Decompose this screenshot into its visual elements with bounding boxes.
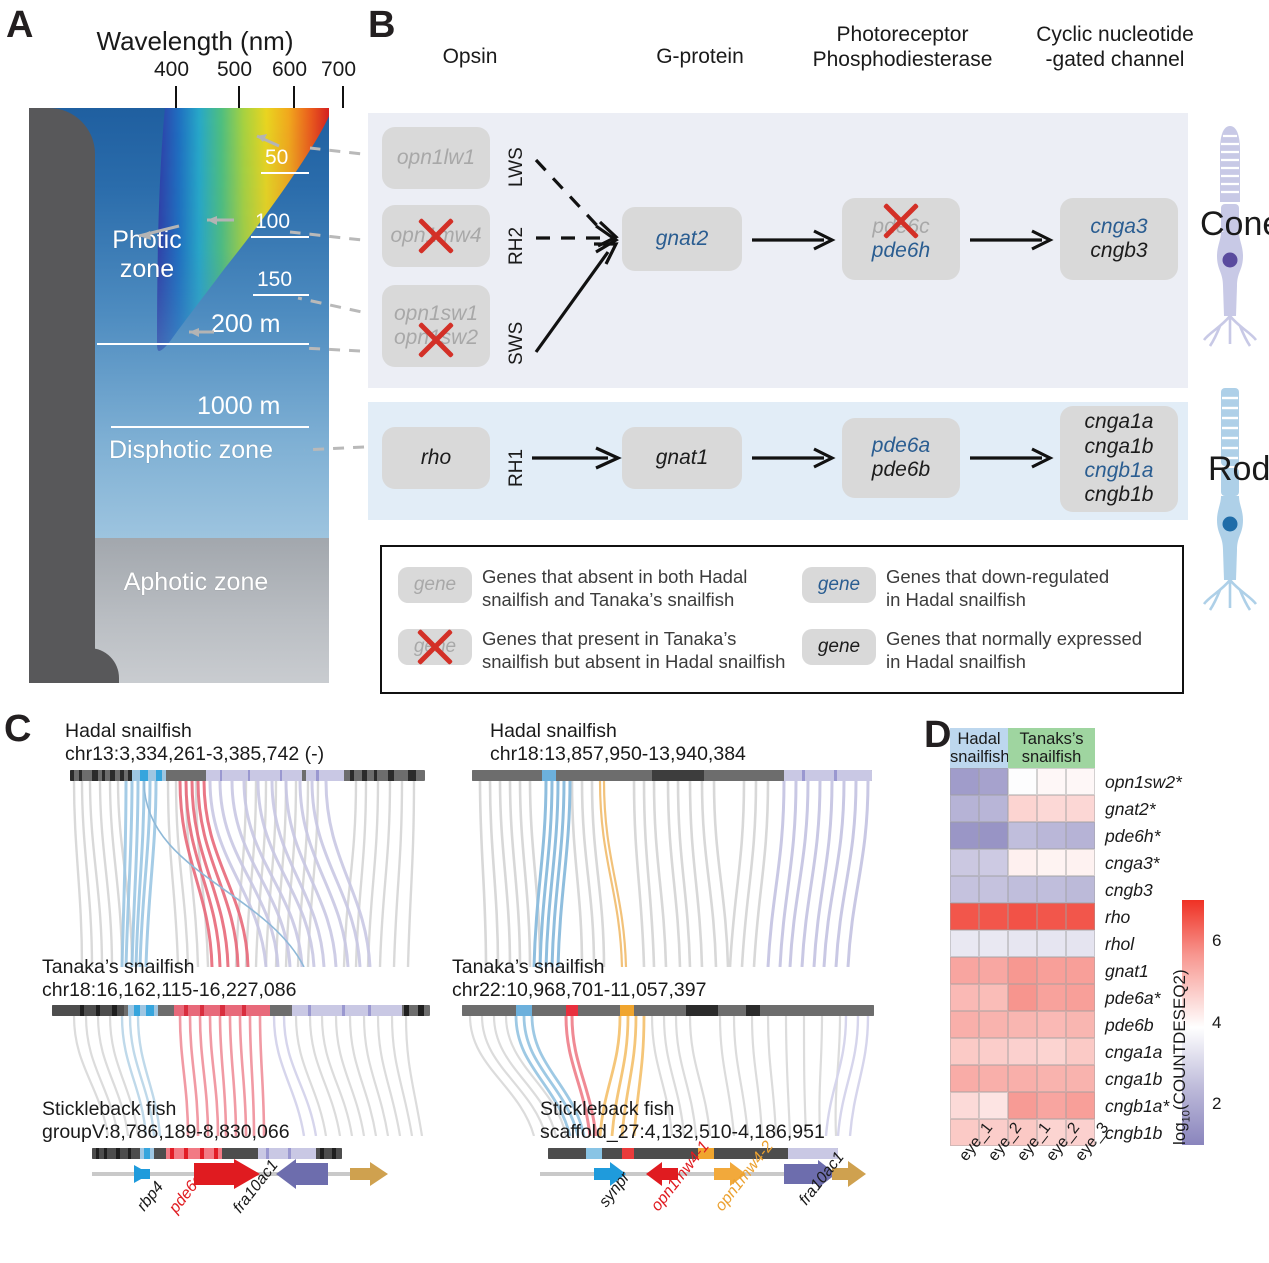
heatmap-cell — [1037, 984, 1066, 1011]
colorbar-tick: 2 — [1212, 1094, 1221, 1114]
heatmap-cell — [950, 768, 979, 795]
gene-arrow-trailing — [350, 1162, 388, 1186]
heatmap-row-label: rhol — [1105, 934, 1134, 955]
rod-cell-illustration — [1190, 382, 1269, 627]
opsin-class-sws: SWS — [506, 322, 528, 365]
panel-c-letter: C — [4, 710, 31, 748]
heatmap-cell — [1066, 930, 1095, 957]
group-header-line1: Tanaks’s — [1008, 730, 1095, 748]
panel-a-letter: A — [6, 6, 33, 44]
heatmap-cell — [979, 1038, 1008, 1065]
colorbar-tick: 4 — [1212, 1013, 1221, 1033]
heatmap-row-label: gnat1 — [1105, 961, 1149, 982]
rod-cell-label: Rod — [1208, 450, 1269, 489]
heatmap-cell — [950, 822, 979, 849]
legend-chip-absent-hadal: gene — [398, 629, 472, 665]
legend-chip-absent-both: gene — [398, 567, 472, 603]
gene-label-opn1mw4: opn1mw4 — [390, 224, 481, 248]
heatmap-cell — [979, 849, 1008, 876]
heatmap-cell — [1037, 930, 1066, 957]
synteny-left-chrbar-tanaka — [52, 1005, 430, 1016]
heatmap-cell — [1066, 903, 1095, 930]
gene-label-pde6a: pde6a — [872, 434, 930, 458]
heatmap-row-label: pde6b — [1105, 1015, 1154, 1036]
heatmap-cell — [1008, 876, 1037, 903]
gene-label-cnga1a: cnga1a — [1085, 410, 1154, 434]
heatmap-cell — [950, 1065, 979, 1092]
opsin-class-rh2: RH2 — [506, 227, 528, 265]
heatmap-cell — [950, 849, 979, 876]
arrow-pde-to-cng-rod — [970, 446, 1058, 470]
gene-label-cngb3: cngb3 — [1090, 239, 1147, 263]
heatmap-cell — [1008, 1011, 1037, 1038]
heatmap-cell — [979, 930, 1008, 957]
column-header-opsin: Opsin — [380, 45, 560, 70]
legend-chip-normal: gene — [802, 629, 876, 665]
heatmap-cell — [1037, 1092, 1066, 1119]
heatmap-cell — [1008, 822, 1037, 849]
heatmap-cell — [1037, 1065, 1066, 1092]
heatmap-cell — [1008, 957, 1037, 984]
gene-arrow-fra10ac1 — [276, 1159, 328, 1189]
gene-label-gnat1: gnat1 — [656, 446, 709, 470]
gene-label-pde6c: pde6c — [872, 215, 929, 239]
heatmap-cell — [1008, 1065, 1037, 1092]
heatmap-row-label: cngb3 — [1105, 880, 1153, 901]
expression-heatmap: HadalsnailfishTanaks’ssnailfishopn1sw2*g… — [920, 700, 1269, 1263]
gene-box-rho[interactable]: rho — [382, 427, 490, 489]
synteny-left-track2-title: Tanaka’s snailfish chr18:16,162,115-16,2… — [42, 956, 296, 1003]
heatmap-cell — [1066, 795, 1095, 822]
synteny-right-chrbar-tanaka — [462, 1005, 874, 1016]
heatmap-cell — [1037, 849, 1066, 876]
gene-label-cngb1b: cngb1b — [1085, 483, 1154, 507]
tick-label-600: 600 — [272, 58, 307, 82]
synteny-right: Hadal snailfish chr18:13,857,950-13,940,… — [490, 720, 890, 1140]
synteny-right-ribbons-top — [472, 781, 872, 967]
heatmap-cell — [979, 1065, 1008, 1092]
heatmap-cell — [979, 1011, 1008, 1038]
heatmap-cell — [1066, 768, 1095, 795]
heatmap-cell — [1008, 930, 1037, 957]
gene-label-pde6h: pde6h — [872, 239, 930, 263]
heatmap-cell — [1008, 1092, 1037, 1119]
panel-c: C Hadal snailfish chr13:3,334,261-3,385,… — [0, 700, 920, 1263]
cone-cell-label: Cone — [1200, 205, 1269, 244]
gene-label-cnga1b: cnga1b — [1085, 435, 1154, 459]
gene-label-rho: rho — [421, 446, 451, 470]
heatmap-cell — [950, 1038, 979, 1065]
heatmap-cell — [1066, 849, 1095, 876]
heatmap-row-label: opn1sw2* — [1105, 772, 1182, 793]
synteny-left-chrbar-hadal — [70, 770, 425, 781]
aphotic-zone-label: Aphotic zone — [91, 568, 301, 597]
tick-mark-700 — [342, 86, 344, 108]
column-header-gprotein: G-protein — [600, 45, 800, 70]
synteny-left-gene-arrows — [88, 1158, 388, 1192]
heatmap-cell — [1066, 1065, 1095, 1092]
heatmap-cell — [979, 768, 1008, 795]
heatmap-cell — [1037, 795, 1066, 822]
column-header-cng: Cyclic nucleotide -gated channel — [1010, 23, 1220, 73]
wavelength-title: Wavelength (nm) — [40, 26, 350, 57]
heatmap-cell — [979, 876, 1008, 903]
synteny-left-track3-title: Stickleback fish groupV:8,786,189-8,830,… — [42, 1098, 290, 1145]
opsin-class-rh1: RH1 — [506, 449, 528, 487]
gene-label-cnga3: cnga3 — [1090, 215, 1147, 239]
colorbar-axis-label: log10(COUNTDESEQ2) — [1170, 969, 1192, 1145]
heatmap-cell — [1008, 768, 1037, 795]
colorbar-tick: 6 — [1212, 931, 1221, 951]
heatmap-row-label: gnat2* — [1105, 799, 1156, 820]
synteny-right-track3-title: Stickleback fish scaffold_27:4,132,510-4… — [540, 1098, 825, 1145]
tick-mark-400 — [175, 86, 177, 108]
opsin-class-lws: LWS — [506, 147, 528, 187]
wavelength-axis: 400 500 600 700 — [26, 58, 356, 84]
group-header-line2: snailfish — [1008, 748, 1095, 766]
heatmap-group-header-0: Hadalsnailfish — [950, 728, 1008, 768]
gene-label-opn1lw1: opn1lw1 — [397, 146, 475, 170]
heatmap-cell — [1066, 984, 1095, 1011]
gene-box-opn1lw1[interactable]: opn1lw1 — [382, 127, 490, 189]
heatmap-cell — [979, 903, 1008, 930]
gene-box-cng-cone[interactable]: cnga3 cngb3 — [1060, 198, 1178, 280]
gene-box-cng-rod[interactable]: cnga1a cnga1b cngb1a cngb1b — [1060, 406, 1178, 512]
heatmap-cell — [1037, 1038, 1066, 1065]
legend-text-absent-hadal: Genes that present in Tanaka’s snailfish… — [482, 627, 812, 673]
heatmap-cell — [950, 1011, 979, 1038]
heatmap-cell — [979, 957, 1008, 984]
heatmap-cell — [979, 795, 1008, 822]
heatmap-cell — [1066, 822, 1095, 849]
tick-label-700: 700 — [321, 58, 356, 82]
gene-box-gnat1[interactable]: gnat1 — [622, 427, 742, 489]
heatmap-cell — [950, 1092, 979, 1119]
synteny-left: Hadal snailfish chr13:3,334,261-3,385,74… — [60, 720, 430, 1140]
panel-b-letter: B — [368, 6, 395, 44]
heatmap-cell — [1037, 903, 1066, 930]
heatmap-group-header-1: Tanaks’ssnailfish — [1008, 728, 1095, 768]
heatmap-cell — [1037, 822, 1066, 849]
arrow-gnat2-to-pde — [752, 228, 840, 252]
heatmap-cell — [950, 930, 979, 957]
heatmap-cell — [950, 957, 979, 984]
gene-label-pde6b: pde6b — [872, 458, 930, 482]
heatmap-row-label: pde6h* — [1105, 826, 1160, 847]
heatmap-cell — [1066, 1038, 1095, 1065]
gene-label-cngb1a: cngb1a — [1085, 459, 1154, 483]
panel-b: B Opsin G-protein Photoreceptor Phosphod… — [360, 0, 1269, 700]
heatmap-row-label: cnga3* — [1105, 853, 1160, 874]
group-header-line1: Hadal — [950, 730, 1008, 748]
tick-mark-500 — [238, 86, 240, 108]
arrow-rho-to-gnat1 — [532, 446, 624, 470]
synteny-right-track1-title: Hadal snailfish chr18:13,857,950-13,940,… — [490, 720, 746, 767]
heatmap-row-label: cngb1b — [1105, 1123, 1162, 1144]
tick-label-400: 400 — [154, 58, 189, 82]
arrow-gnat1-to-pde — [752, 446, 840, 470]
heatmap-cell — [1066, 876, 1095, 903]
heatmap-cell — [1066, 1011, 1095, 1038]
tick-label-500: 500 — [217, 58, 252, 82]
synteny-left-ribbons-top — [60, 781, 430, 967]
cone-cell-illustration — [1190, 120, 1269, 370]
heatmap-cell — [950, 903, 979, 930]
gene-label-opn1sw1: opn1sw1 — [394, 302, 478, 326]
seafloor-rock-base — [29, 648, 119, 683]
heatmap-cell — [1008, 984, 1037, 1011]
heatmap-cell — [1037, 1011, 1066, 1038]
heatmap-cell — [1066, 957, 1095, 984]
heatmap-cell — [1008, 795, 1037, 822]
heatmap-cell — [1037, 768, 1066, 795]
heatmap-cell — [950, 984, 979, 1011]
gene-label-opn1sw2: opn1sw2 — [394, 326, 478, 350]
legend-text-absent-both: Genes that absent in both Hadal snailfis… — [482, 565, 782, 611]
heatmap-cell — [1008, 849, 1037, 876]
panel-a: A Wavelength (nm) 400 500 600 700 — [0, 0, 360, 700]
heatmap-row-label: rho — [1105, 907, 1130, 928]
heatmap-cell — [1008, 1038, 1037, 1065]
heatmap-cell — [950, 795, 979, 822]
heatmap-row-label: cnga1a — [1105, 1042, 1162, 1063]
heatmap-cell — [1008, 903, 1037, 930]
legend-chip-down: gene — [802, 567, 876, 603]
heatmap-row-label: cngb1a* — [1105, 1096, 1169, 1117]
synteny-right-track2-title: Tanaka’s snailfish chr22:10,968,701-11,0… — [452, 956, 706, 1003]
gene-box-gnat2[interactable]: gnat2 — [622, 207, 742, 271]
gene-box-pde6-cone[interactable]: pde6c pde6h — [842, 198, 960, 280]
legend-text-normal: Genes that normally expressed in Hadal s… — [886, 627, 1176, 673]
synteny-left-track1-title: Hadal snailfish chr13:3,334,261-3,385,74… — [65, 720, 324, 767]
heatmap-cell — [979, 822, 1008, 849]
tick-mark-600 — [293, 86, 295, 108]
gene-box-opn1mw4[interactable]: opn1mw4 — [382, 205, 490, 267]
panel-d: D HadalsnailfishTanaks’ssnailfishopn1sw2… — [920, 700, 1269, 1263]
arrow-pde-to-cng-cone — [970, 228, 1058, 252]
heatmap-cell — [979, 1092, 1008, 1119]
gene-box-opn1sw[interactable]: opn1sw1 opn1sw2 — [382, 285, 490, 367]
column-header-pde: Photoreceptor Phosphodiesterase — [795, 23, 1010, 73]
heatmap-row-label: pde6a* — [1105, 988, 1160, 1009]
legend-text-down: Genes that down-regulated in Hadal snail… — [886, 565, 1176, 611]
group-header-line2: snailfish — [950, 748, 1008, 766]
heatmap-cell — [979, 984, 1008, 1011]
gene-box-pde6-rod[interactable]: pde6a pde6b — [842, 418, 960, 498]
synteny-right-chrbar-hadal — [472, 770, 872, 781]
panel-b-legend: gene Genes that absent in both Hadal sna… — [380, 545, 1184, 694]
heatmap-cell — [1066, 1092, 1095, 1119]
heatmap-row-label: cnga1b — [1105, 1069, 1162, 1090]
gene-label-gnat2: gnat2 — [656, 227, 709, 251]
heatmap-cell — [950, 876, 979, 903]
heatmap-cell — [1037, 876, 1066, 903]
heatmap-cell — [1037, 957, 1066, 984]
